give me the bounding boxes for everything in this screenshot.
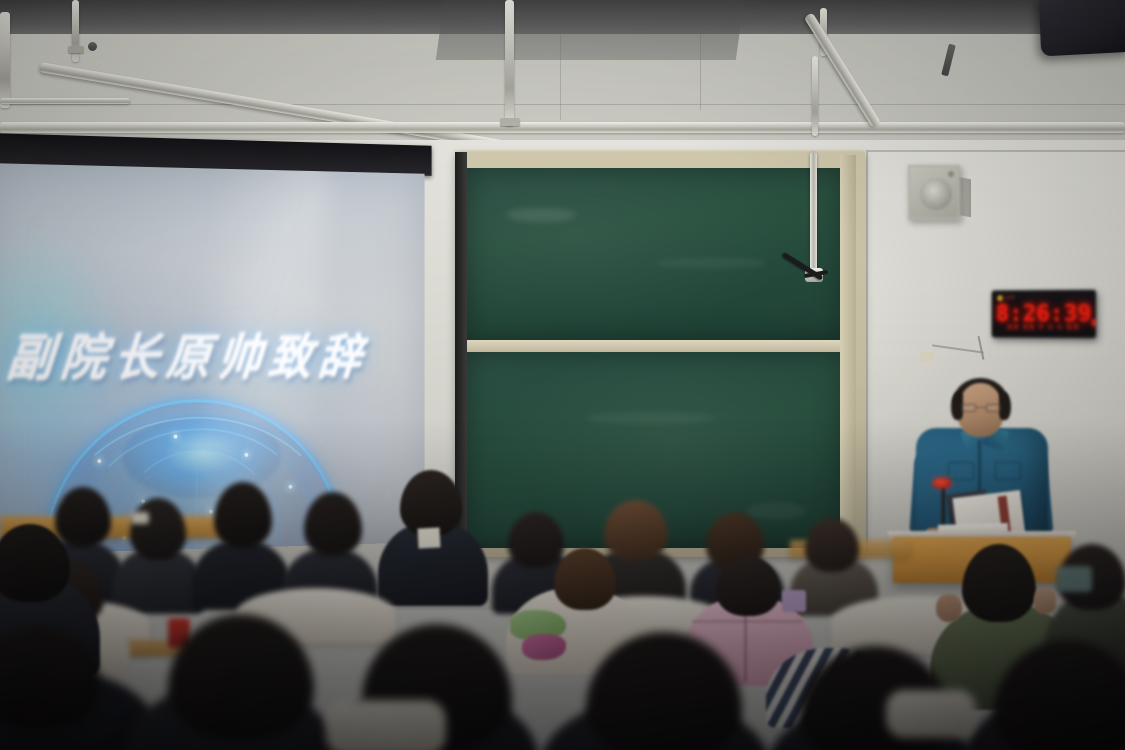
conduit-pipe-horizontal-main bbox=[0, 122, 1125, 133]
pipe-fitting bbox=[88, 42, 97, 51]
lecture-hall-scene: 副院长原帅致辞 LED 8:26:39 温度 湿度 年 月 日 星期 bbox=[0, 0, 1125, 750]
chalk-smudge bbox=[746, 502, 806, 520]
conduit-pipe-vertical-center bbox=[505, 0, 514, 126]
glasses-lens-left bbox=[961, 404, 976, 412]
shirt-collar bbox=[417, 527, 440, 548]
wall-seam bbox=[866, 150, 1125, 152]
chalk-smudge bbox=[586, 412, 716, 424]
hair-clip bbox=[131, 512, 149, 524]
presenter-shirt-pocket bbox=[995, 462, 1021, 480]
globe-spark bbox=[97, 459, 101, 463]
podium-microphone-head-icon bbox=[933, 478, 951, 488]
wall-speaker bbox=[908, 165, 960, 220]
clock-side-led-icon bbox=[1092, 319, 1096, 326]
coat-pink-accent bbox=[522, 634, 566, 660]
conduit-pipe-riser bbox=[812, 56, 818, 136]
projection-screen: 副院长原帅致辞 bbox=[0, 133, 432, 553]
puffer-seam bbox=[692, 620, 802, 623]
speaker-tweeter-icon bbox=[948, 171, 954, 177]
chalkboard-right-post bbox=[840, 155, 856, 555]
clock-subtext: 温度 湿度 年 月 日 星期 bbox=[992, 323, 1095, 331]
pipe-clamp bbox=[68, 46, 84, 53]
chalk-smudge bbox=[506, 208, 576, 222]
chalk-smudge bbox=[656, 258, 766, 268]
audience-person-accessory bbox=[1056, 566, 1092, 592]
glasses-lens-right bbox=[986, 404, 1001, 412]
glasses-bridge bbox=[976, 407, 986, 408]
ceiling-hanging-speaker-unit bbox=[1039, 0, 1125, 56]
audience-person-ear bbox=[1034, 588, 1056, 614]
clock-wall-plug bbox=[920, 352, 934, 362]
globe-spark bbox=[174, 435, 178, 439]
lanyard-accent bbox=[782, 590, 806, 612]
hanging-microphone-rod bbox=[810, 152, 817, 280]
audience-person-hand bbox=[936, 594, 962, 622]
conduit-pipe-short bbox=[0, 98, 130, 104]
ceiling-beam-secondary bbox=[436, 0, 744, 60]
presenter-shirt-pocket bbox=[948, 462, 974, 480]
presenter-glasses-icon bbox=[960, 404, 1002, 412]
speaker-cone-icon bbox=[920, 178, 952, 210]
audience-white-garment bbox=[326, 700, 446, 750]
wall-corner-seam bbox=[866, 152, 868, 552]
led-wall-clock: LED 8:26:39 温度 湿度 年 月 日 星期 bbox=[992, 290, 1097, 339]
conduit-pipe-vertical-left bbox=[0, 12, 10, 108]
audience-white-garment bbox=[886, 690, 976, 738]
pipe-clamp bbox=[500, 118, 520, 126]
ceiling-panel-seam bbox=[0, 104, 1125, 105]
